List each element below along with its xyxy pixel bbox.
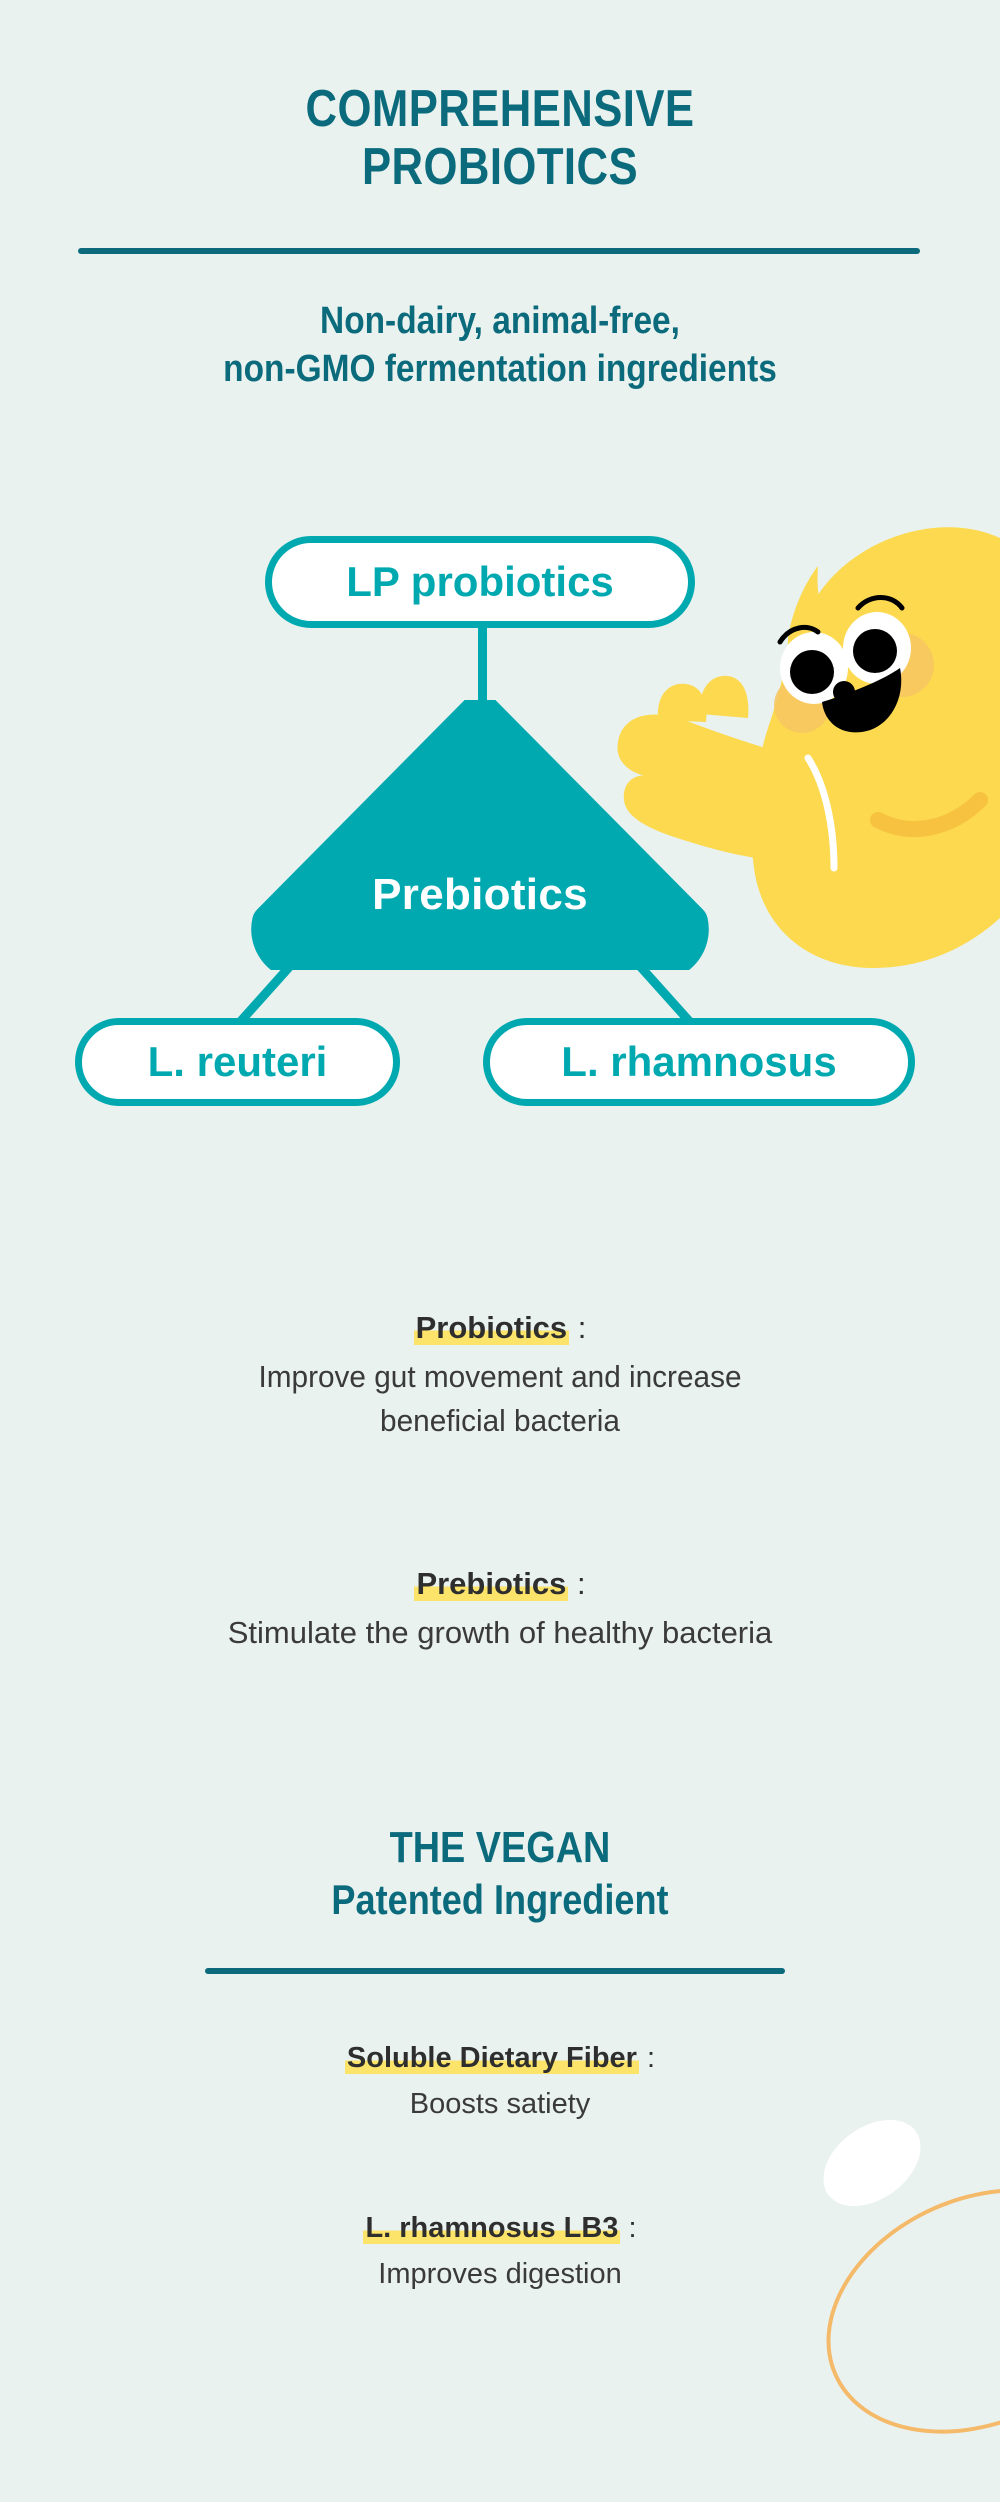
vegan-item-fiber-term: Soluble Dietary Fiber [345, 2042, 639, 2074]
definition-prebiotics-term: Prebiotics [414, 1566, 568, 1601]
mascot-pupil-left [790, 650, 834, 694]
definition-prebiotics-desc: Stimulate the growth of healthy bacteria [0, 1611, 1000, 1655]
infographic-page: COMPREHENSIVE PROBIOTICS Non-dairy, anim… [0, 0, 1000, 2502]
node-lp-probiotics-label: LP probiotics [346, 558, 614, 606]
definition-probiotics-desc-line-2: beneficial bacteria [20, 1399, 980, 1443]
vegan-item-fiber-colon: : [639, 2042, 655, 2074]
definition-prebiotics: Prebiotics : Stimulate the growth of hea… [0, 1566, 1000, 1655]
page-title-line-1: COMPREHENSIVE [80, 80, 920, 138]
vegan-item-lb3-heading: L. rhamnosus LB3 : [0, 2212, 1000, 2245]
vegan-section-title-line-1: THE VEGAN [70, 1822, 930, 1875]
page-title-line-2: PROBIOTICS [80, 138, 920, 196]
definition-probiotics-heading: Probiotics : [0, 1310, 1000, 1346]
vegan-item-fiber-heading: Soluble Dietary Fiber : [0, 2042, 1000, 2075]
connector-top [478, 622, 487, 707]
definition-prebiotics-colon: : [568, 1566, 585, 1601]
triangle-shape [269, 710, 691, 962]
vegan-section-title: THE VEGAN Patented Ingredient [70, 1822, 930, 1925]
decorative-orange-ellipse-outline [787, 2142, 1000, 2480]
title-divider [78, 248, 920, 254]
vegan-item-l-rhamnosus-lb3: L. rhamnosus LB3 : Improves digestion [0, 2212, 1000, 2295]
page-title: COMPREHENSIVE PROBIOTICS [80, 80, 920, 196]
page-subtitle-line-2: non-GMO fermentation ingredients [60, 346, 940, 394]
definition-prebiotics-heading: Prebiotics : [0, 1566, 1000, 1602]
node-l-rhamnosus-label: L. rhamnosus [561, 1038, 836, 1086]
vegan-item-lb3-colon: : [620, 2212, 636, 2244]
definition-probiotics-desc-line-1: Improve gut movement and increase [20, 1355, 980, 1399]
vegan-item-soluble-dietary-fiber: Soluble Dietary Fiber : Boosts satiety [0, 2042, 1000, 2125]
mascot-body [751, 527, 1000, 968]
definition-probiotics-desc: Improve gut movement and increase benefi… [20, 1355, 980, 1443]
page-subtitle: Non-dairy, animal-free, non-GMO fermenta… [60, 298, 940, 393]
node-l-reuteri-label: L. reuteri [148, 1038, 328, 1086]
vegan-item-fiber-desc: Boosts satiety [0, 2084, 1000, 2125]
definition-probiotics-colon: : [569, 1310, 586, 1345]
definition-probiotics: Probiotics : Improve gut movement and in… [0, 1310, 1000, 1443]
definition-probiotics-term: Probiotics [414, 1310, 570, 1345]
vegan-title-divider [205, 1968, 785, 1974]
prebiotics-triangle [250, 700, 710, 970]
mascot-pupil-right [853, 629, 897, 673]
vegan-section-title-line-2: Patented Ingredient [70, 1875, 930, 1925]
node-l-rhamnosus[interactable]: L. rhamnosus [483, 1018, 915, 1106]
vegan-item-lb3-term: L. rhamnosus LB3 [363, 2212, 620, 2244]
page-subtitle-line-1: Non-dairy, animal-free, [60, 298, 940, 346]
node-l-reuteri[interactable]: L. reuteri [75, 1018, 400, 1106]
node-lp-probiotics[interactable]: LP probiotics [265, 536, 695, 628]
definition-prebiotics-desc-line-1: Stimulate the growth of healthy bacteria [0, 1611, 1000, 1655]
vegan-item-lb3-desc: Improves digestion [0, 2254, 1000, 2295]
